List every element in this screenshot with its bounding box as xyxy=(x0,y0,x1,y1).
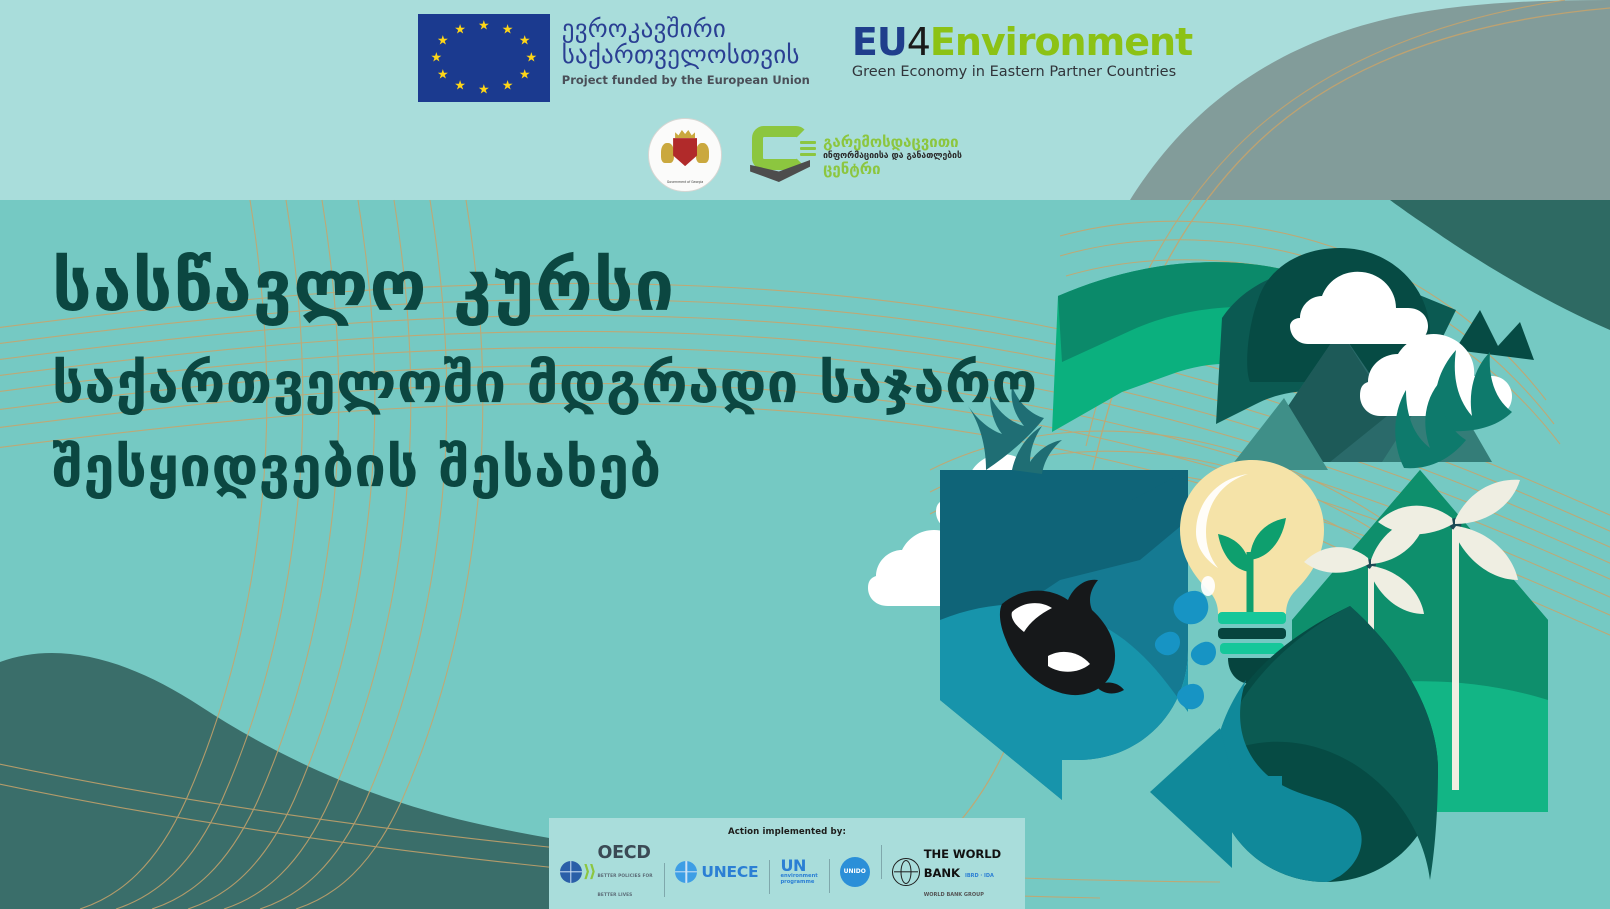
shield-icon xyxy=(673,138,697,166)
world-bank-sub-a: IBRD · IDA xyxy=(965,873,994,879)
eu-funding-logo: ★ ★ ★ ★ ★ ★ ★ ★ ★ ★ ★ ★ ევროკავშირი საქა… xyxy=(418,14,810,102)
unido-globe-icon: UNIDO xyxy=(840,857,870,887)
lion-left-icon xyxy=(661,143,674,163)
eu-logo-text: ევროკავშირი საქართველოსთვის Project fund… xyxy=(562,14,810,87)
oecd-tagline: BETTER POLICIES FOR BETTER LIVES xyxy=(598,874,653,898)
swoosh-icon: ⟩⟩ xyxy=(583,862,595,882)
unece-name: UNECE xyxy=(701,863,758,881)
world-bank-logo: THE WORLD BANK IBRD · IDA WORLD BANK GRO… xyxy=(881,843,1025,900)
gov-seal-caption: Government of Georgia xyxy=(657,180,713,184)
gecic-line-3: ცენტრი xyxy=(823,161,962,177)
eu4environment-logo: EU4Environment Green Economy in Eastern … xyxy=(852,14,1192,81)
unece-logo: UNECE xyxy=(664,861,769,883)
eu-logo-title-ka: ევროკავშირი xyxy=(562,16,810,42)
page-subtitle: საქართველოში მდგრადი საჯარო შესყიდვების … xyxy=(52,342,982,510)
gecic-mark-icon xyxy=(752,126,814,184)
globe-icon xyxy=(560,861,582,883)
poster-canvas: ★ ★ ★ ★ ★ ★ ★ ★ ★ ★ ★ ★ ევროკავშირი საქა… xyxy=(0,0,1610,909)
brand-environment-text: Environment xyxy=(930,20,1192,64)
european-union-flag-icon: ★ ★ ★ ★ ★ ★ ★ ★ ★ ★ ★ ★ xyxy=(418,14,550,102)
eu-funded-note: Project funded by the European Union xyxy=(562,73,810,87)
un-environment-programme-logo: UN environment programme xyxy=(769,858,828,885)
secondary-logo-row: Government of Georgia გარემოსდაცვითი ინფ… xyxy=(0,118,1610,192)
page-title: სასწავლო კურსი xyxy=(52,246,982,326)
lion-right-icon xyxy=(696,143,709,163)
partner-logo-list: ⟩⟩ OECD BETTER POLICIES FOR BETTER LIVES… xyxy=(549,843,1025,900)
world-bank-sub-b: WORLD BANK GROUP xyxy=(924,892,984,898)
eu4environment-wordmark: EU4Environment xyxy=(852,22,1192,62)
page-subtitle-line-2: შესყიდვების შესახებ xyxy=(52,435,662,500)
gecic-text: გარემოსდაცვითი ინფორმაციისა და განათლები… xyxy=(823,134,962,177)
page-subtitle-line-1: საქართველოში მდგრადი საჯარო xyxy=(52,351,1038,416)
brand-eu-text: EU xyxy=(852,20,907,64)
footer-partner-bar: Action implemented by: ⟩⟩ OECD BETTER PO… xyxy=(549,818,1025,909)
unido-logo: UNIDO xyxy=(829,857,881,887)
unep-name: UN xyxy=(780,858,806,873)
environmental-info-education-centre-logo: გარემოსდაცვითი ინფორმაციისა და განათლები… xyxy=(752,126,962,184)
title-block: სასწავლო კურსი საქართველოში მდგრადი საჯა… xyxy=(52,246,982,510)
header-logo-bar: ★ ★ ★ ★ ★ ★ ★ ★ ★ ★ ★ ★ ევროკავშირი საქა… xyxy=(0,0,1610,200)
brand-four-text: 4 xyxy=(907,20,930,64)
gecic-line-2: ინფორმაციისა და განათლების xyxy=(823,151,962,161)
primary-logo-row: ★ ★ ★ ★ ★ ★ ★ ★ ★ ★ ★ ★ ევროკავშირი საქა… xyxy=(0,14,1610,102)
eu-logo-title-ka-2: საქართველოსთვის xyxy=(562,42,810,68)
gecic-line-1: გარემოსდაცვითი xyxy=(823,134,962,150)
georgia-government-emblem-icon: Government of Georgia xyxy=(648,118,722,192)
un-globe-icon xyxy=(675,861,697,883)
oecd-logo: ⟩⟩ OECD BETTER POLICIES FOR BETTER LIVES xyxy=(549,843,664,900)
world-bank-globe-icon xyxy=(892,858,920,886)
oecd-name: OECD xyxy=(598,843,651,863)
crown-icon xyxy=(675,129,695,138)
unep-sub-2: programme xyxy=(780,879,814,885)
eu4environment-tagline: Green Economy in Eastern Partner Countri… xyxy=(852,63,1192,81)
footer-caption: Action implemented by: xyxy=(728,827,846,837)
